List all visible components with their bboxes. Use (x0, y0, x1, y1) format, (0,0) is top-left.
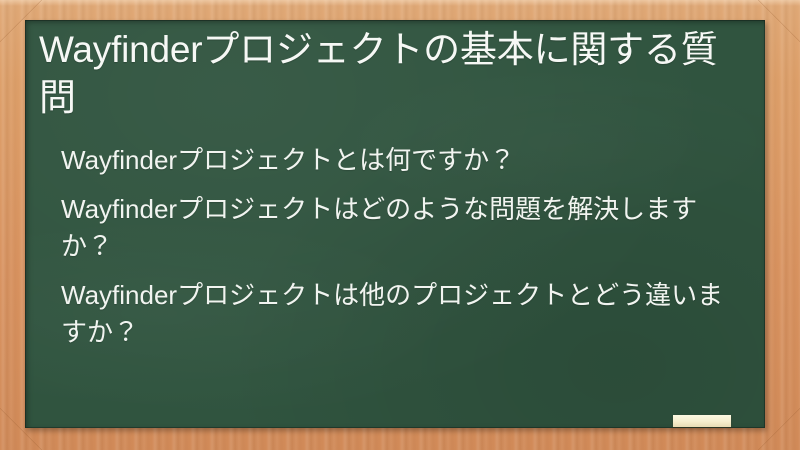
list-item: Wayfinderプロジェクトとは何ですか？ (61, 142, 741, 179)
question-list: Wayfinderプロジェクトとは何ですか？ Wayfinderプロジェクトはど… (37, 142, 741, 351)
chalk-stick (673, 415, 731, 427)
chalkboard-slide: Wayfinderプロジェクトの基本に関する質問 Wayfinderプロジェクト… (0, 0, 800, 450)
list-item: Wayfinderプロジェクトはどのような問題を解決しますか？ (61, 191, 741, 265)
list-item: Wayfinderプロジェクトは他のプロジェクトとどう違いますか？ (61, 277, 741, 351)
page-title: Wayfinderプロジェクトの基本に関する質問 (37, 26, 741, 122)
slide-content: Wayfinderプロジェクトの基本に関する質問 Wayfinderプロジェクト… (25, 20, 765, 428)
